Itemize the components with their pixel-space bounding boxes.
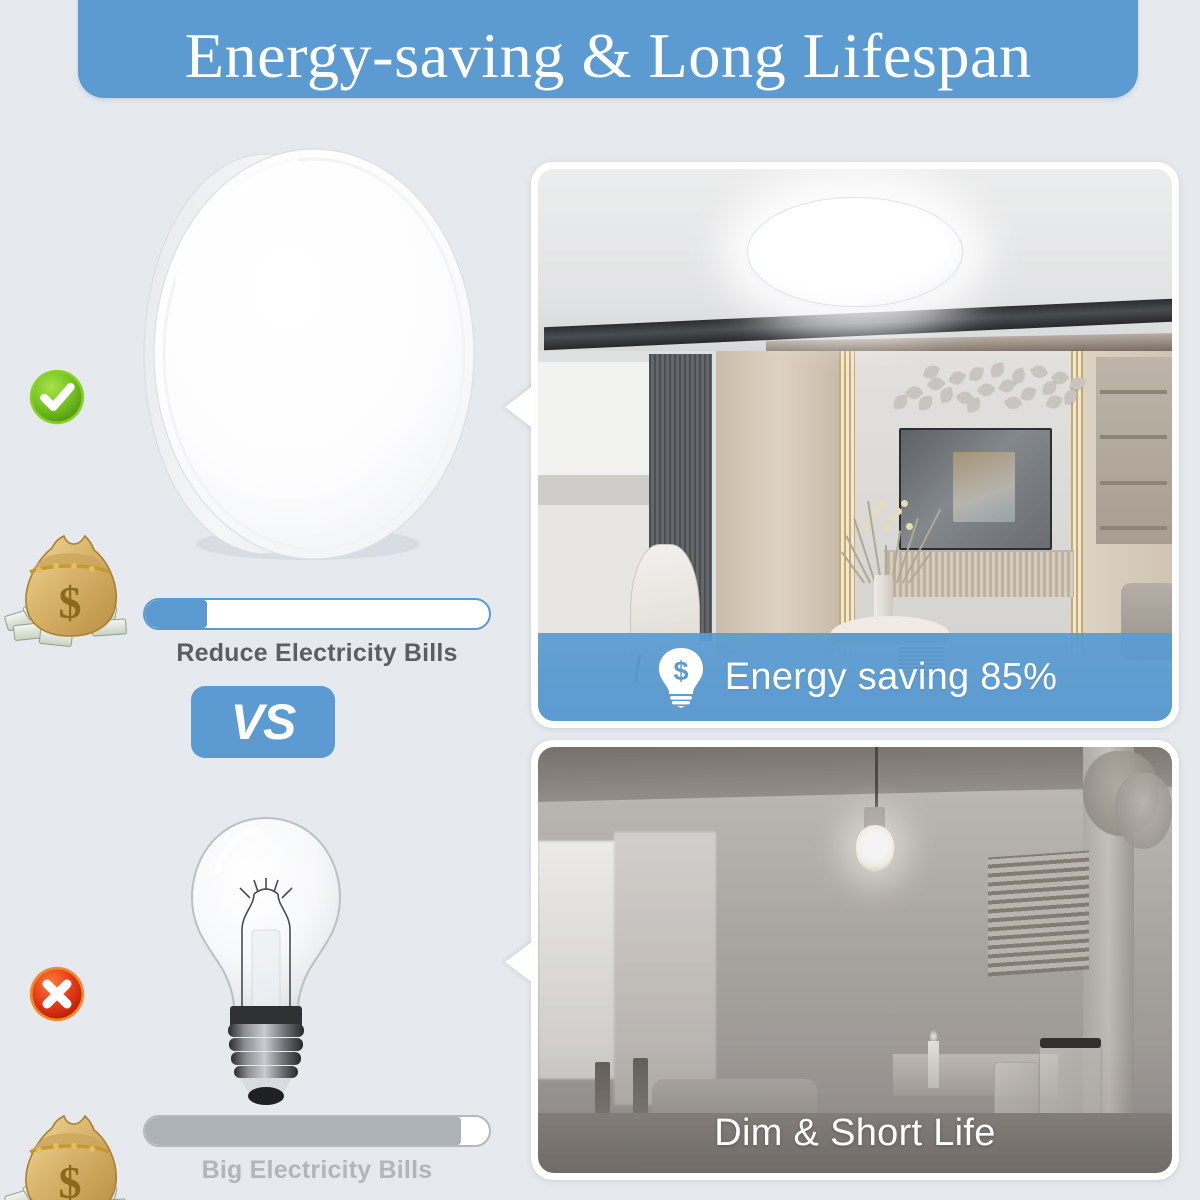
money-bag-icon: $ [4, 530, 134, 652]
page-title: Energy-saving & Long Lifespan [184, 25, 1031, 88]
incandescent-bulb [168, 810, 364, 1110]
bookshelf [1096, 357, 1172, 545]
big-bills-progress-fill [145, 1117, 461, 1145]
stacked-books [988, 850, 1089, 976]
led-ceiling-light [118, 132, 490, 582]
svg-text:$: $ [59, 1157, 82, 1200]
caption-bar-energy-saving: $ Energy saving 85% [538, 633, 1172, 721]
big-bills-label: Big Electricity Bills [143, 1156, 491, 1185]
reduce-bills-bar-group: Reduce Electricity Bills [143, 598, 491, 668]
big-bills-bar-group: Big Electricity Bills [143, 1115, 491, 1185]
caption-bar-dim: Dim & Short Life [538, 1101, 1172, 1165]
vs-badge: VS [191, 686, 335, 758]
reduce-bills-progress-fill [145, 600, 207, 628]
tv-screen-artwork [953, 452, 1015, 522]
vs-label: VS [231, 697, 296, 747]
photo-card-dim-room[interactable]: Dim & Short Life [531, 740, 1179, 1180]
red-cross-icon [28, 965, 86, 1023]
incandescent-bulb-installed [856, 825, 894, 872]
callout-pointer-top [505, 384, 535, 430]
photo-bright-living-room: $ Energy saving 85% [538, 169, 1172, 721]
big-bills-progress-track[interactable] [143, 1115, 491, 1147]
photo-dim-kitchen: Dim & Short Life [538, 747, 1172, 1173]
dollar-lightbulb-icon: $ [653, 646, 709, 708]
archway [614, 832, 715, 1105]
comparison-column: $ [0, 110, 520, 1200]
hanging-glass-vessel [1115, 773, 1172, 850]
reduce-bills-progress-track[interactable] [143, 598, 491, 630]
television [899, 428, 1051, 549]
money-bag-icon: $ [4, 1110, 134, 1200]
caption-text-energy-saving: Energy saving 85% [725, 656, 1058, 699]
wood-wall-panel [716, 351, 855, 660]
svg-text:$: $ [673, 656, 688, 686]
infographic-canvas: Energy-saving & Long Lifespan [0, 0, 1200, 1200]
pendant-cord [875, 747, 878, 811]
caption-text-dim-short-life: Dim & Short Life [714, 1112, 995, 1155]
green-check-icon [28, 368, 86, 426]
led-ceiling-light-installed [747, 197, 963, 307]
photo-card-bright-room[interactable]: $ Energy saving 85% [531, 162, 1179, 728]
candle [928, 1041, 939, 1088]
bird-wall-art [887, 357, 1077, 423]
dried-branches [852, 489, 922, 583]
svg-text:$: $ [59, 577, 82, 628]
title-banner: Energy-saving & Long Lifespan [78, 0, 1138, 98]
reduce-bills-label: Reduce Electricity Bills [143, 639, 491, 668]
callout-pointer-bottom [505, 941, 533, 983]
